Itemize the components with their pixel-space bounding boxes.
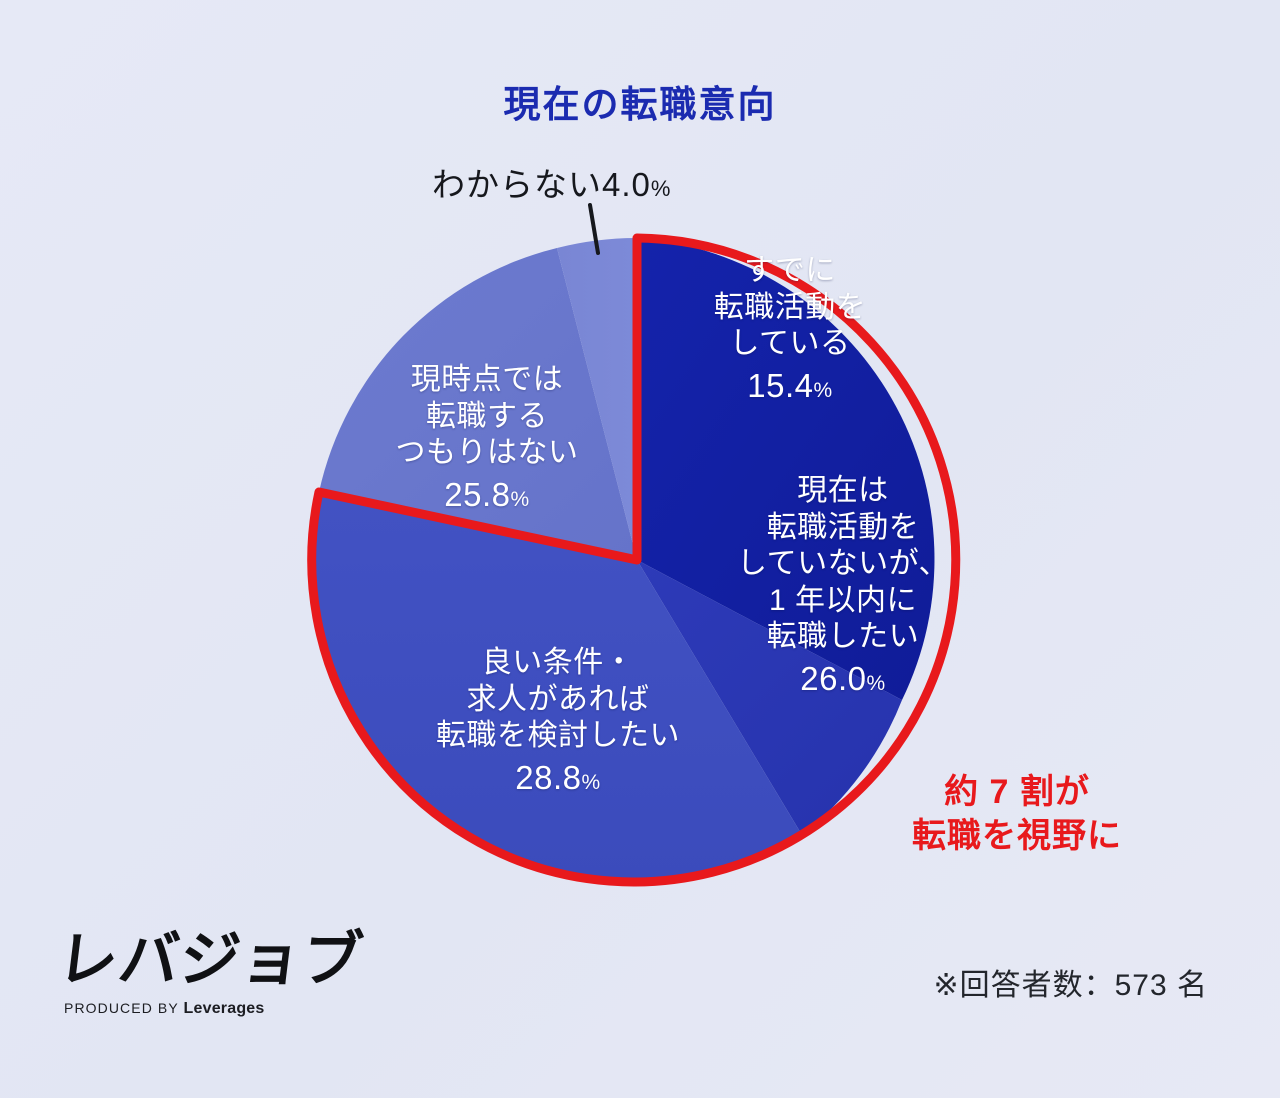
pie-label-line: 転職活動を <box>660 290 920 327</box>
pie-label-value: 15.4% <box>660 366 920 406</box>
logo-wordmark: レバジョブ <box>54 930 361 990</box>
pie-label-line: 転職を検討したい <box>393 718 723 755</box>
logo-brand-name: Leverages <box>184 1000 265 1017</box>
pie-value-number: 15.4 <box>747 367 813 404</box>
pie-label-line: している <box>660 326 920 363</box>
pie-label-value: 25.8% <box>347 475 627 515</box>
pie-label-line: 現在は <box>703 473 983 510</box>
pie-label-line: 転職する <box>347 399 627 436</box>
pie-label-line: 1 年以内に <box>703 583 983 620</box>
logo-produced-by: PRODUCED BY <box>64 1000 179 1016</box>
highlight-annotation: 約 7 割が 転職を視野に <box>862 770 1172 858</box>
pie-value-number: 28.8 <box>515 759 581 796</box>
pie-label-line: 転職活動を <box>703 510 983 547</box>
annotation-line-2: 転職を視野に <box>862 814 1172 858</box>
callout-value: 4.0 <box>602 166 651 203</box>
callout-label-wakaranai: わからない4.0% <box>432 158 671 206</box>
pie-label-line: 転職したい <box>703 619 983 656</box>
page-title: 現在の転職意向 <box>0 74 1280 128</box>
pie-label-line: していないが、 <box>703 546 983 583</box>
pie-label-line: 求人があれば <box>393 682 723 719</box>
brand-logo: レバジョブ PRODUCED BY Leverages <box>58 930 358 1018</box>
pie-label-value: 26.0% <box>703 659 983 699</box>
pie-label-already-job-hunting: すでに 転職活動を している 15.4% <box>660 253 920 406</box>
callout-unit: % <box>651 176 672 201</box>
pie-label-line: つもりはない <box>347 435 627 472</box>
pie-label-value: 28.8% <box>393 758 723 798</box>
pie-value-unit: % <box>814 379 833 402</box>
pie-value-number: 25.8 <box>444 476 510 513</box>
callout-leader-line <box>590 205 598 253</box>
callout-category: わからない <box>432 166 602 203</box>
pie-value-unit: % <box>867 672 886 695</box>
infographic-canvas: 現在の転職意向 わからない4.0% <box>0 0 1280 1098</box>
pie-label-within-one-year: 現在は 転職活動を していないが、 1 年以内に 転職したい 26.0% <box>703 473 983 699</box>
respondents-footnote: ※回答者数：573 名 <box>933 960 1208 1004</box>
pie-label-if-good-conditions: 良い条件・ 求人があれば 転職を検討したい 28.8% <box>393 645 723 798</box>
pie-label-no-intention: 現時点では 転職する つもりはない 25.8% <box>347 362 627 515</box>
pie-label-line: すでに <box>660 253 920 290</box>
pie-label-line: 現時点では <box>347 362 627 399</box>
pie-value-unit: % <box>582 771 601 794</box>
pie-value-unit: % <box>511 488 530 511</box>
pie-value-number: 26.0 <box>800 660 866 697</box>
annotation-line-1: 約 7 割が <box>862 770 1172 814</box>
logo-tagline: PRODUCED BY Leverages <box>64 1000 358 1018</box>
pie-label-line: 良い条件・ <box>393 645 723 682</box>
